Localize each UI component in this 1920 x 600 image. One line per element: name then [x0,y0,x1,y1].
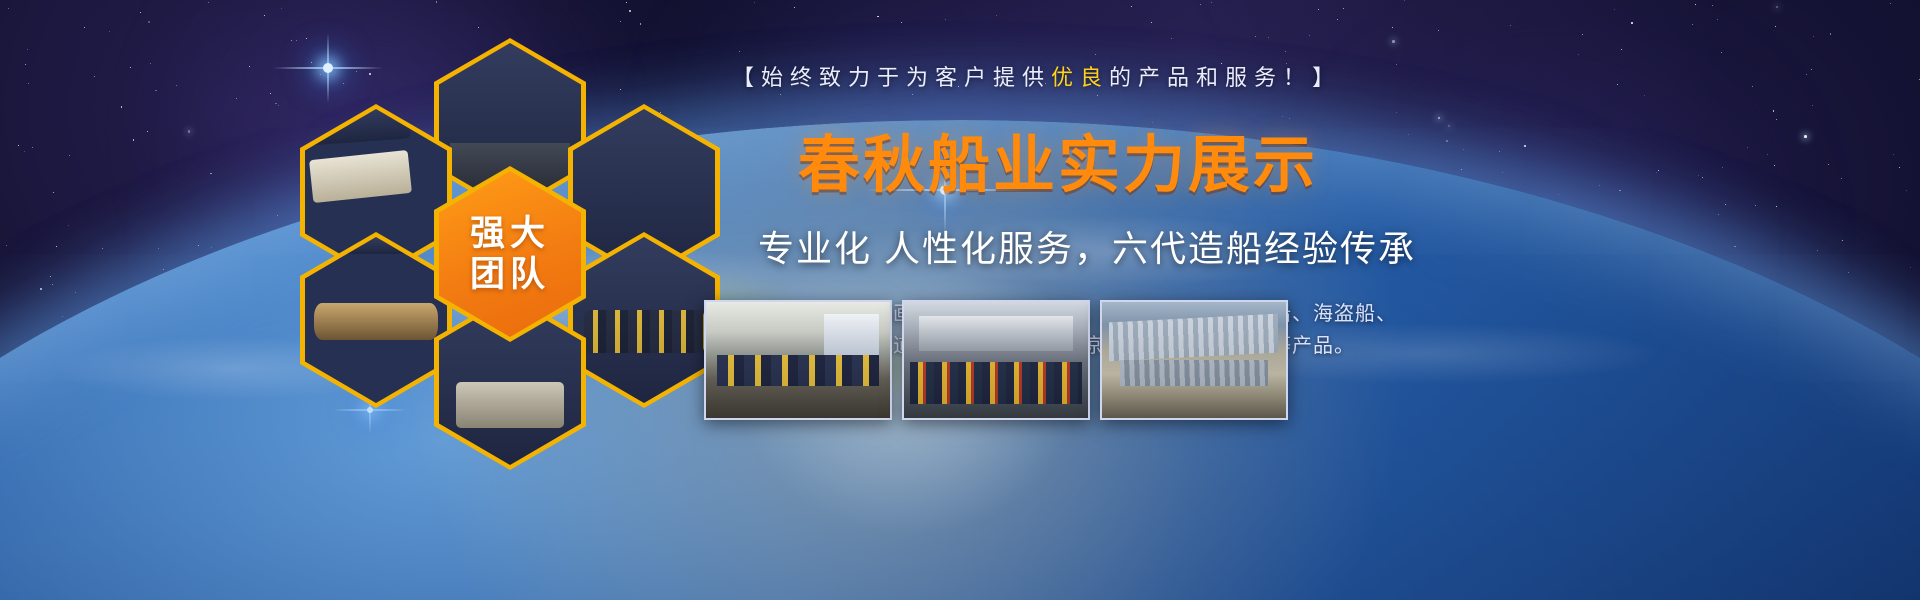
hex-photo-staff-office[interactable] [568,232,720,408]
tagline: 【 始终致力于为客户提供 优良 的产品和服务！ 】 [732,60,1880,92]
team-badge-line-1: 强大 [470,214,550,253]
subtitle: 专业化 人性化服务，六代造船经验传承 [758,220,1880,272]
hexagon-photo-collage: 强大 团队 [300,38,720,468]
strip-photo-factory[interactable] [1100,300,1288,420]
tagline-highlight: 优良 [1051,60,1109,92]
strip-photo-office[interactable] [704,300,892,420]
promo-banner: 强大 团队 【 始终致力于为客户提供 优良 的产品和服务！ 】 春秋船业实力展示… [0,0,1920,600]
tagline-bracket-open: 【 [732,60,761,92]
page-title: 春秋船业实力展示 [798,114,1880,204]
team-badge[interactable]: 强大 团队 [434,166,586,342]
team-badge-line-2: 团队 [470,255,550,294]
tagline-text-before: 始终致力于为客户提供 [761,60,1051,92]
hex-photo-wooden-boat-dock[interactable] [300,232,452,408]
tagline-text-after: 的产品和服务！ [1109,60,1312,92]
strip-photo-team[interactable] [902,300,1090,420]
photo-strip [704,300,1288,420]
tagline-bracket-close: 】 [1312,60,1341,92]
